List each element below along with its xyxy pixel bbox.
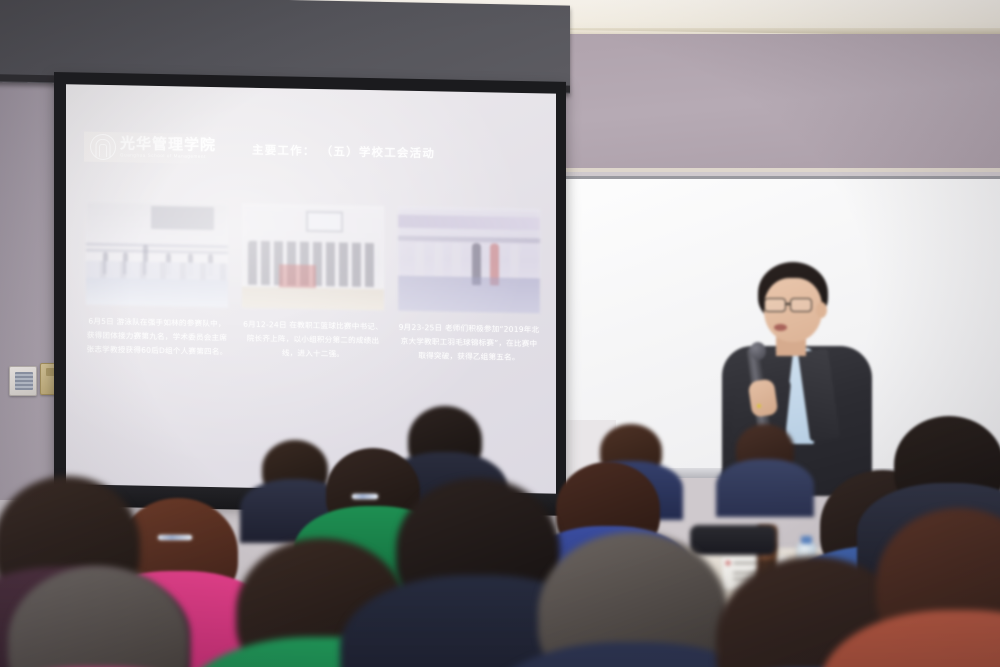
slide-cell: 6月12-24日 在教职工篮球比赛中书记、院长齐上阵，以小组积分第二的成绩出线，… bbox=[242, 204, 384, 363]
audience-member bbox=[736, 424, 794, 476]
audience-member bbox=[396, 478, 560, 620]
swimming-competition-photo bbox=[86, 201, 228, 308]
speaker-mouth bbox=[774, 324, 787, 331]
slide-photo-grid: 6月5日 游泳队在强手如林的参赛队中，获得团体接力赛第九名，学术委员会主席张志学… bbox=[86, 201, 540, 366]
light-switch-panel-icon[interactable] bbox=[9, 366, 37, 396]
right-wall-band bbox=[560, 34, 1000, 172]
hair-clip bbox=[158, 535, 192, 540]
school-logo: 光华管理学院 Guanghua School of Management bbox=[84, 132, 222, 165]
photo-caption: 6月12-24日 在教职工篮球比赛中书记、院长齐上阵，以小组积分第二的成绩出线，… bbox=[242, 318, 384, 363]
hair-clip bbox=[352, 494, 378, 499]
audience-member bbox=[894, 416, 1000, 514]
slide-surface: 光华管理学院 Guanghua School of Management 主要工… bbox=[66, 84, 556, 495]
speaker-hand bbox=[748, 378, 779, 417]
slide-cell: 6月5日 游泳队在强手如林的参赛队中，获得团体接力赛第九名，学术委员会主席张志学… bbox=[86, 201, 228, 360]
glasses-icon bbox=[764, 298, 822, 312]
photo-caption: 6月5日 游泳队在强手如林的参赛队中，获得团体接力赛第九名，学术委员会主席张志学… bbox=[86, 315, 228, 360]
badminton-team-photo bbox=[398, 207, 540, 314]
lecture-hall-scene: 光华管理学院 Guanghua School of Management 主要工… bbox=[0, 0, 1000, 667]
audience-member bbox=[876, 508, 1000, 658]
slide-header: 光华管理学院 Guanghua School of Management 主要工… bbox=[66, 124, 556, 177]
audience-member bbox=[262, 440, 328, 498]
audience-member bbox=[8, 566, 188, 667]
logo-english-name: Guanghua School of Management bbox=[120, 154, 216, 160]
basketball-team-photo bbox=[242, 204, 384, 311]
logo-chinese-name: 光华管理学院 bbox=[120, 137, 216, 154]
university-seal-icon bbox=[90, 134, 116, 160]
slide-title: 主要工作： （五）学校工会活动 bbox=[252, 142, 435, 162]
audience-member bbox=[538, 532, 728, 667]
slide-cell: 9月23-25日 老师们积极参加“2019年北京大学教职工羽毛球锦标赛”，在比赛… bbox=[398, 207, 540, 366]
microphone-led-icon bbox=[757, 404, 761, 408]
photo-caption: 9月23-25日 老师们积极参加“2019年北京大学教职工羽毛球锦标赛”，在比赛… bbox=[398, 321, 540, 366]
